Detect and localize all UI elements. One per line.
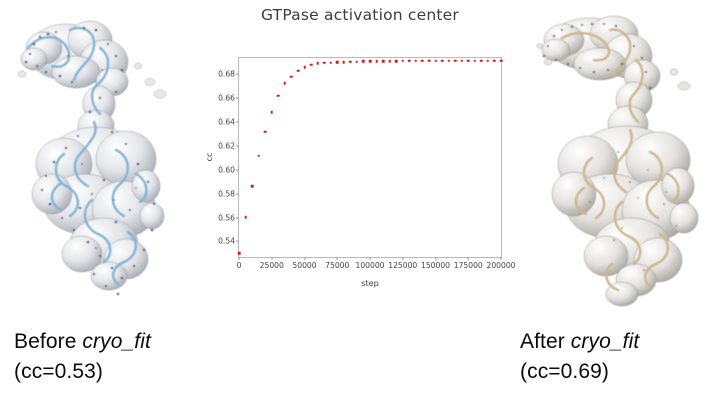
data-point <box>349 61 352 64</box>
data-point <box>323 62 326 65</box>
x-tick-label: 50000 <box>292 261 316 270</box>
caption-after: After cryo_fit (cc=0.69) <box>520 327 720 387</box>
data-point <box>375 60 378 63</box>
x-tick-mark <box>435 257 436 260</box>
data-point <box>388 60 391 63</box>
data-point <box>480 59 483 62</box>
y-tick-mark <box>236 241 239 242</box>
y-tick-mark <box>236 169 239 170</box>
x-axis-label: step <box>238 278 502 288</box>
caption-before-prefix: Before <box>14 330 82 353</box>
data-point <box>343 61 346 64</box>
x-tick-mark <box>271 257 272 260</box>
structure-image-after <box>518 2 716 318</box>
x-tick-mark <box>304 257 305 260</box>
x-tick-label: 175000 <box>454 261 483 270</box>
data-point <box>251 185 254 188</box>
y-tick-label: 0.62 <box>218 141 235 150</box>
structure-image-before <box>4 4 200 316</box>
data-point <box>500 59 503 62</box>
chart-title: GTPase activation center <box>205 6 515 24</box>
x-tick-label: 25000 <box>260 261 284 270</box>
x-tick-label: 100000 <box>356 261 385 270</box>
x-tick-mark <box>370 257 371 260</box>
plot-frame: 0.540.560.580.600.620.640.660.6802500050… <box>238 57 502 258</box>
data-point <box>408 59 411 62</box>
x-tick-mark <box>402 257 403 260</box>
y-tick-label: 0.60 <box>218 165 235 174</box>
cryo-em-density-map-after-icon <box>518 2 716 318</box>
data-point <box>270 111 273 114</box>
y-tick-label: 0.58 <box>218 189 235 198</box>
data-point <box>264 130 267 133</box>
y-tick-mark <box>236 74 239 75</box>
y-tick-label: 0.56 <box>218 213 235 222</box>
x-tick-label: 200000 <box>487 261 516 270</box>
cc-vs-step-chart: GTPase activation center 0.540.560.580.6… <box>205 6 515 296</box>
y-tick-label: 0.68 <box>218 70 235 79</box>
data-point <box>297 69 300 72</box>
x-tick-mark <box>501 257 502 260</box>
y-tick-mark <box>236 193 239 194</box>
data-point <box>356 60 359 63</box>
x-tick-label: 125000 <box>388 261 417 270</box>
caption-after-cc: (cc=0.69) <box>520 357 720 387</box>
y-tick-label: 0.66 <box>218 94 235 103</box>
data-point <box>447 59 450 62</box>
caption-after-prefix: After <box>520 330 571 353</box>
x-tick-label: 75000 <box>325 261 349 270</box>
caption-before-italic: cryo_fit <box>82 330 151 353</box>
data-point <box>310 63 313 66</box>
y-tick-mark <box>236 217 239 218</box>
data-point <box>395 60 398 63</box>
data-point <box>244 216 247 219</box>
data-point <box>382 60 385 63</box>
plot-area: 0.540.560.580.600.620.640.660.6802500050… <box>239 58 501 257</box>
x-tick-mark <box>468 257 469 260</box>
y-tick-label: 0.54 <box>218 237 235 246</box>
data-point <box>303 66 306 69</box>
y-axis-label: cc <box>204 152 214 161</box>
data-point <box>277 95 280 98</box>
data-point <box>336 61 339 64</box>
data-point <box>369 60 372 63</box>
x-tick-label: 150000 <box>421 261 450 270</box>
data-point <box>284 82 287 85</box>
data-point <box>434 59 437 62</box>
data-point <box>290 75 293 78</box>
data-point <box>493 59 496 62</box>
data-point <box>474 59 477 62</box>
data-point <box>316 62 319 65</box>
data-point <box>415 59 418 62</box>
data-point <box>428 59 431 62</box>
y-tick-label: 0.64 <box>218 117 235 126</box>
y-tick-mark <box>236 145 239 146</box>
data-point <box>362 60 365 63</box>
y-tick-mark <box>236 98 239 99</box>
data-point <box>401 60 404 63</box>
caption-before: Before cryo_fit (cc=0.53) <box>14 327 284 387</box>
data-point <box>421 59 424 62</box>
data-point <box>454 59 457 62</box>
data-point <box>460 59 463 62</box>
caption-after-italic: cryo_fit <box>571 330 640 353</box>
data-point <box>257 154 260 157</box>
y-tick-mark <box>236 121 239 122</box>
x-tick-mark <box>337 257 338 260</box>
caption-before-cc: (cc=0.53) <box>14 357 284 387</box>
cryo-em-density-map-before-icon <box>4 4 200 316</box>
data-point <box>441 59 444 62</box>
x-tick-label: 0 <box>237 261 242 270</box>
data-point <box>238 252 241 255</box>
data-point <box>467 59 470 62</box>
data-point <box>329 61 332 64</box>
data-point <box>487 59 490 62</box>
x-tick-mark <box>239 257 240 260</box>
